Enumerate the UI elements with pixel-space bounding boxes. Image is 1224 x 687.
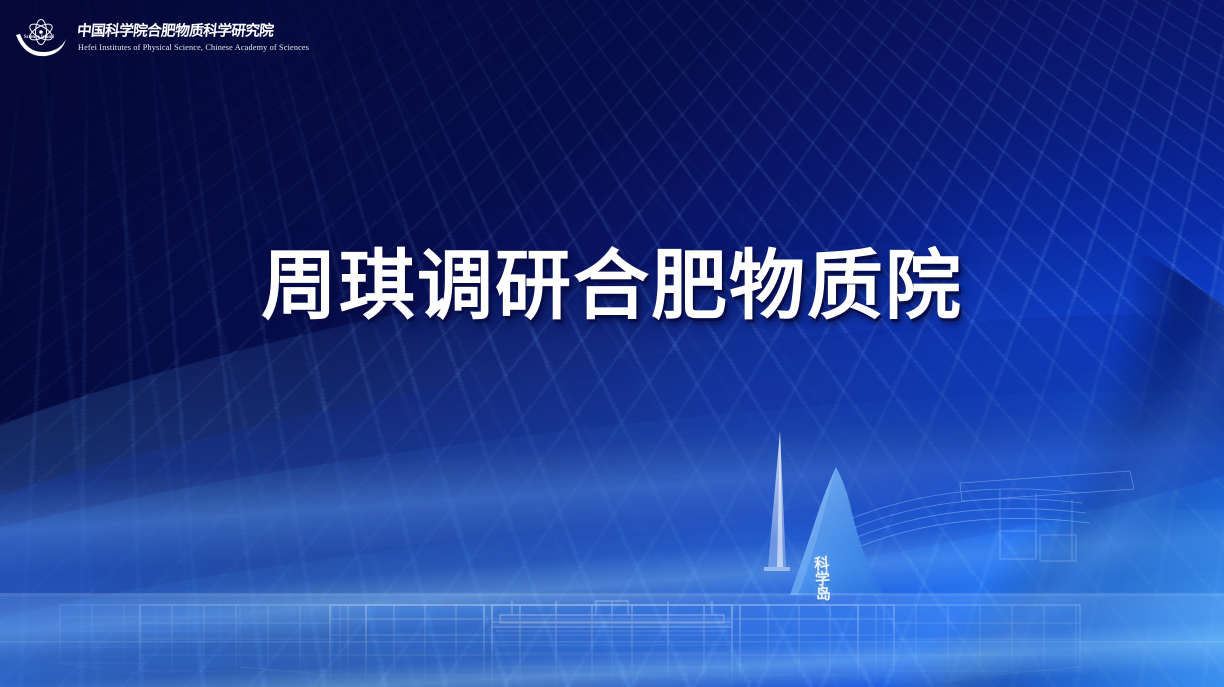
presentation-slide: 科学岛 Science Island 中国科学院合肥物质科学研究 bbox=[0, 0, 1224, 687]
page-title: 周琪调研合肥物质院 bbox=[0, 244, 1224, 330]
org-name-en: Hefei Institutes of Physical Science, Ch… bbox=[78, 42, 310, 53]
science-island-atom-crescent-icon: Science Island bbox=[14, 16, 68, 58]
svg-text:Science Island: Science Island bbox=[24, 35, 54, 40]
svg-text:中国科学院合肥物质科学研究院: 中国科学院合肥物质科学研究院 bbox=[78, 22, 275, 40]
institute-logo: Science Island 中国科学院合肥物质科学研究院 Hefei Inst… bbox=[14, 16, 310, 58]
monument-label: 科学岛 bbox=[805, 555, 833, 601]
org-name-cn: 中国科学院合肥物质科学研究院 bbox=[78, 21, 310, 41]
logo-wordmark: 中国科学院合肥物质科学研究院 Hefei Institutes of Physi… bbox=[78, 21, 310, 53]
campus-illustration bbox=[0, 427, 1224, 687]
